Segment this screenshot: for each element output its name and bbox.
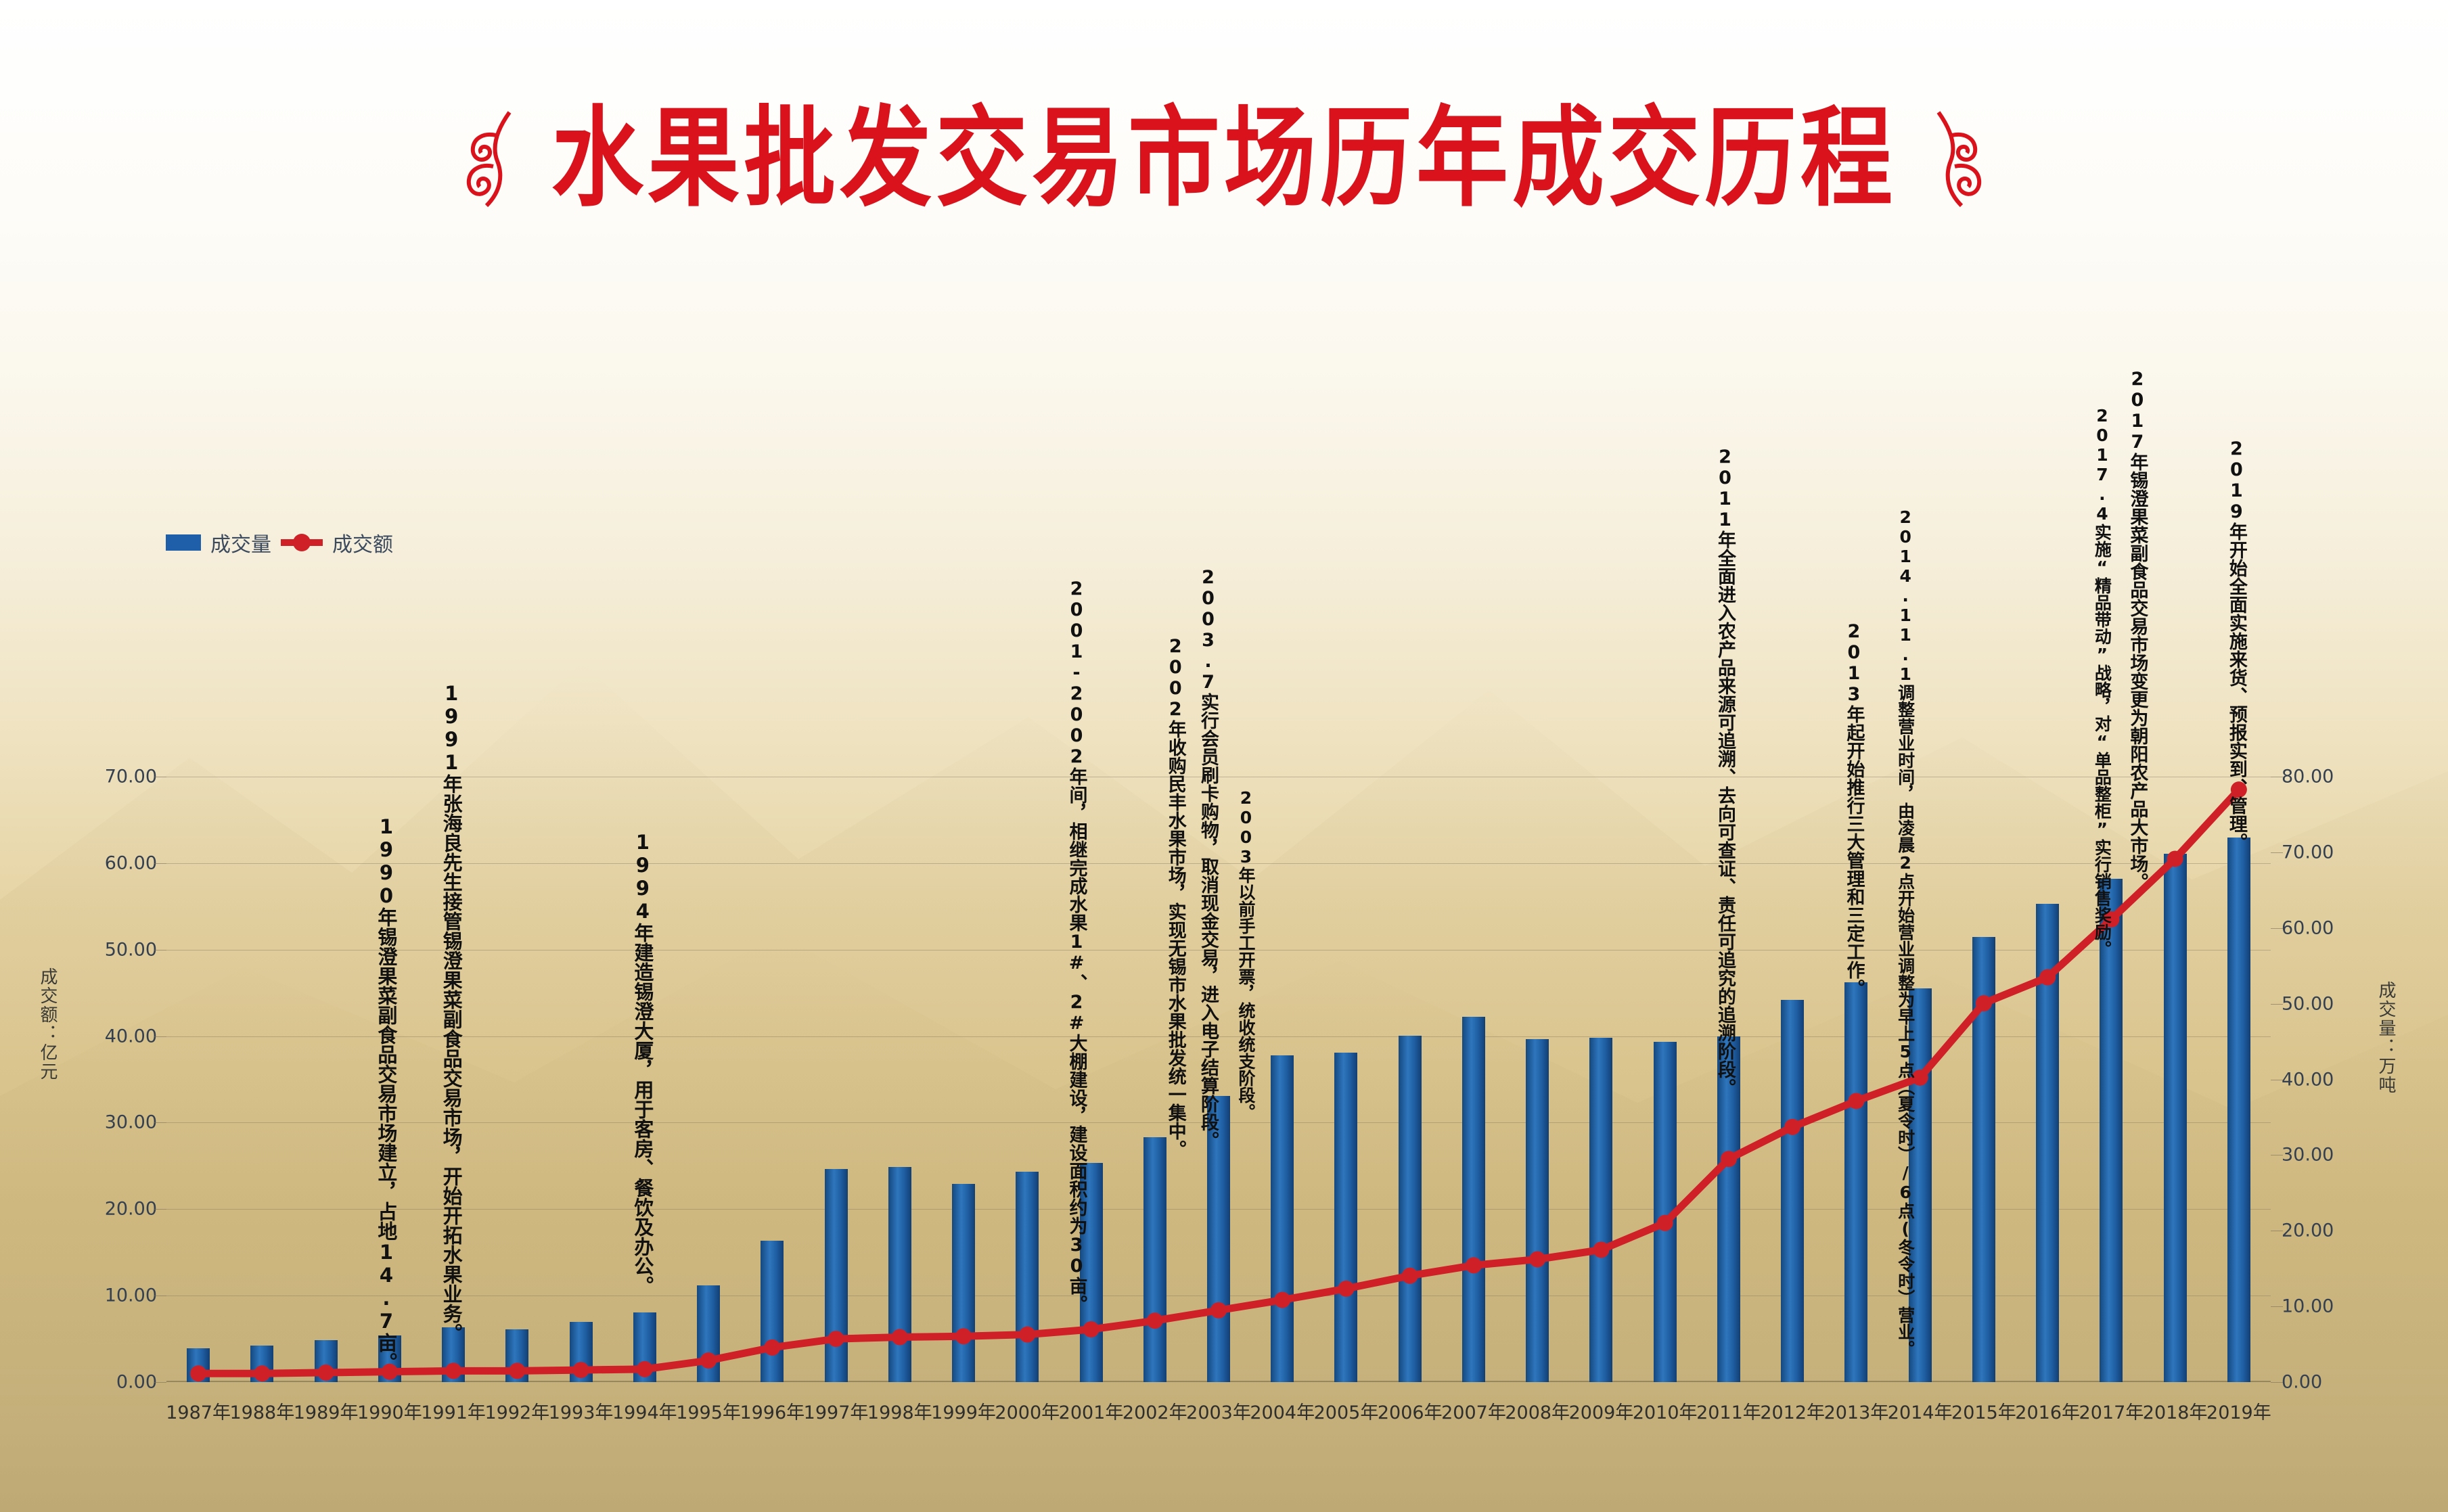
line-marker-2000年 [1019,1327,1035,1343]
line-marker-2004年 [1274,1292,1290,1308]
x-label-1987年: 1987年 [166,1398,231,1424]
line-marker-1991年 [445,1362,461,1379]
right-axis-title: 成交量：万吨 [2374,981,2399,1095]
x-label-2011年: 2011年 [1696,1398,1761,1424]
x-label-1997年: 1997年 [804,1398,869,1424]
anno-2014: 2014.11.1调整营业时间，由凌晨2点开始营业调整为早上5点（夏令时）/6点… [1897,507,1914,1357]
line-marker-2006年 [1402,1268,1418,1284]
x-label-2014年: 2014年 [1888,1398,1953,1424]
right-tick-mark [2271,1004,2283,1005]
right-tick-label: 60.00 [2282,917,2334,938]
line-marker-2002年 [1147,1312,1163,1329]
line-marker-2015年 [1976,995,1992,1011]
line-marker-2011年 [1721,1151,1737,1167]
cloud-ornament-left-icon [457,108,524,210]
line-marker-1998年 [892,1329,908,1346]
anno-2001: 2001-2002年间，相继完成水果1#、2#大棚建设，建设面积约为30亩。 [1067,578,1086,1313]
poster-root: 水果批发交易市场历年成交历程 成交量 成交额 成交额：亿元 成交量：万吨 0.0… [0,0,2448,1512]
left-tick-label: 0.00 [116,1372,157,1393]
x-label-2010年: 2010年 [1633,1398,1698,1424]
anno-2003-pre: 2003年以前手工开票，统收统支阶段。 [1238,788,1255,1120]
right-tick-label: 80.00 [2282,766,2334,787]
line-marker-2018年 [2167,850,2183,867]
left-tick-label: 40.00 [105,1026,157,1047]
x-label-2006年: 2006年 [1378,1398,1443,1424]
x-label-1990年: 1990年 [357,1398,422,1424]
right-tick-label: 40.00 [2282,1069,2334,1090]
line-marker-1997年 [828,1331,844,1347]
x-label-2002年: 2002年 [1123,1398,1187,1424]
x-label-1999年: 1999年 [931,1398,996,1424]
line-marker-2016年 [2039,969,2056,986]
right-tick-mark [2271,1080,2283,1080]
x-label-2017年: 2017年 [2079,1398,2144,1424]
left-tick-label: 60.00 [105,852,157,873]
x-label-2016年: 2016年 [2015,1398,2080,1424]
line-marker-1993年 [573,1362,589,1378]
x-label-1989年: 1989年 [294,1398,359,1424]
legend-swatch-volume [166,534,201,551]
x-label-2009年: 2009年 [1569,1398,1634,1424]
right-tick-label: 10.00 [2282,1296,2334,1317]
x-label-1988年: 1988年 [230,1398,295,1424]
right-tick-label: 0.00 [2282,1372,2322,1393]
cloud-ornament-right-icon [1924,108,1991,210]
anno-1990: 1990年锡澄果菜副食品交易市场建立，占地14.7亩。 [376,815,396,1372]
x-label-1994年: 1994年 [612,1398,677,1424]
line-marker-2007年 [1466,1257,1482,1273]
anno-2011: 2011年全面进入农产品来源可追溯、去向可查证、责任可追究的追溯阶段。 [1715,446,1734,1097]
x-label-1995年: 1995年 [676,1398,741,1424]
right-tick-mark [2271,777,2283,777]
right-tick-label: 20.00 [2282,1220,2334,1241]
right-tick-mark [2271,852,2283,853]
line-marker-1996年 [764,1339,780,1356]
anno-1991: 1991年张海良先生接管锡澄果菜副食品交易市场，开始开拓水果业务。 [441,682,461,1343]
line-marker-2009年 [1593,1241,1609,1258]
anno-2019: 2019年开始全面实施来货、预报实到、管理。 [2227,438,2246,851]
x-label-2018年: 2018年 [2143,1398,2208,1424]
right-tick-mark [2271,928,2283,929]
anno-1994: 1994年建造锡澄大厦，用于客房、餐饮及办公。 [632,831,652,1296]
line-marker-1989年 [318,1365,334,1381]
line-marker-2012年 [1784,1119,1800,1135]
left-tick-mark [154,1036,166,1037]
line-marker-2005年 [1338,1281,1354,1297]
x-label-2015年: 2015年 [1951,1398,2016,1424]
x-label-1991年: 1991年 [421,1398,486,1424]
left-tick-label: 30.00 [105,1112,157,1133]
x-label-2000年: 2000年 [995,1398,1060,1424]
x-label-1993年: 1993年 [549,1398,614,1424]
anno-2002: 2002年收购民丰水果市场，实现无锡市水果批发统一集中。 [1166,636,1185,1158]
x-label-2019年: 2019年 [2206,1398,2271,1424]
legend-label-amount: 成交额 [332,528,393,557]
legend-marker-dot-icon [293,534,311,551]
line-marker-2003年 [1210,1302,1227,1319]
x-label-1992年: 1992年 [484,1398,549,1424]
right-tick-mark [2271,1306,2283,1307]
right-tick-mark [2271,1231,2283,1231]
line-marker-1987年 [190,1365,206,1381]
x-label-2001年: 2001年 [1059,1398,1124,1424]
line-marker-1995年 [700,1352,717,1369]
title-row: 水果批发交易市场历年成交历程 [0,95,2448,223]
x-label-1996年: 1996年 [740,1398,804,1424]
anno-2017-04: 2017.4实施“精品带动”战略，对“单品整柜”实行销售奖励。 [2093,406,2111,957]
x-label-2004年: 2004年 [1250,1398,1315,1424]
anno-2017: 2017年锡澄果菜副食品交易市场变更为朝阳农产品大市场。 [2128,369,2147,891]
chart-legend: 成交量 成交额 [166,528,393,557]
line-marker-2013年 [1848,1093,1864,1109]
legend-label-volume: 成交量 [210,528,271,557]
left-tick-mark [154,863,166,864]
right-tick-mark [2271,1382,2283,1383]
anno-2003-07: 2003.7实行会员刷卡购物，取消现金交易，进入电子结算阶段。 [1199,567,1218,1149]
x-label-2005年: 2005年 [1314,1398,1379,1424]
left-tick-mark [154,1122,166,1123]
left-tick-label: 20.00 [105,1199,157,1220]
line-marker-2008年 [1529,1251,1545,1267]
left-tick-label: 70.00 [105,766,157,787]
x-axis-labels: 1987年1988年1989年1990年1991年1992年1993年1994年… [166,1398,2271,1438]
anno-2013: 2013年起开始推行三大管理和三定工作。 [1844,621,1863,997]
line-marker-1994年 [637,1361,653,1377]
line-marker-2001年 [1083,1321,1100,1337]
left-tick-mark [154,950,166,950]
amount-line [198,789,2239,1373]
x-label-2008年: 2008年 [1505,1398,1570,1424]
right-tick-label: 30.00 [2282,1145,2334,1166]
right-tick-mark [2271,1155,2283,1155]
line-series [166,777,2271,1382]
line-marker-1999年 [955,1328,972,1344]
left-tick-mark [154,1382,166,1383]
left-tick-label: 50.00 [105,939,157,960]
x-label-2003年: 2003年 [1186,1398,1251,1424]
x-label-1998年: 1998年 [867,1398,932,1424]
line-marker-2010年 [1657,1215,1673,1231]
line-marker-1988年 [254,1365,270,1381]
left-tick-mark [154,1296,166,1296]
page-title: 水果批发交易市场历年成交历程 [551,105,1897,213]
x-label-2013年: 2013年 [1824,1398,1889,1424]
x-label-2012年: 2012年 [1760,1398,1825,1424]
right-tick-label: 70.00 [2282,842,2334,863]
right-tick-label: 50.00 [2282,993,2334,1014]
left-tick-label: 10.00 [105,1285,157,1306]
plot-area: 0.0010.0020.0030.0040.0050.0060.0070.00 … [166,777,2271,1382]
x-label-2007年: 2007年 [1441,1398,1506,1424]
line-marker-1992年 [509,1362,525,1379]
left-axis-title: 成交额：亿元 [35,967,60,1081]
left-tick-mark [154,777,166,777]
legend-swatch-amount [281,539,323,546]
left-tick-mark [154,1209,166,1210]
